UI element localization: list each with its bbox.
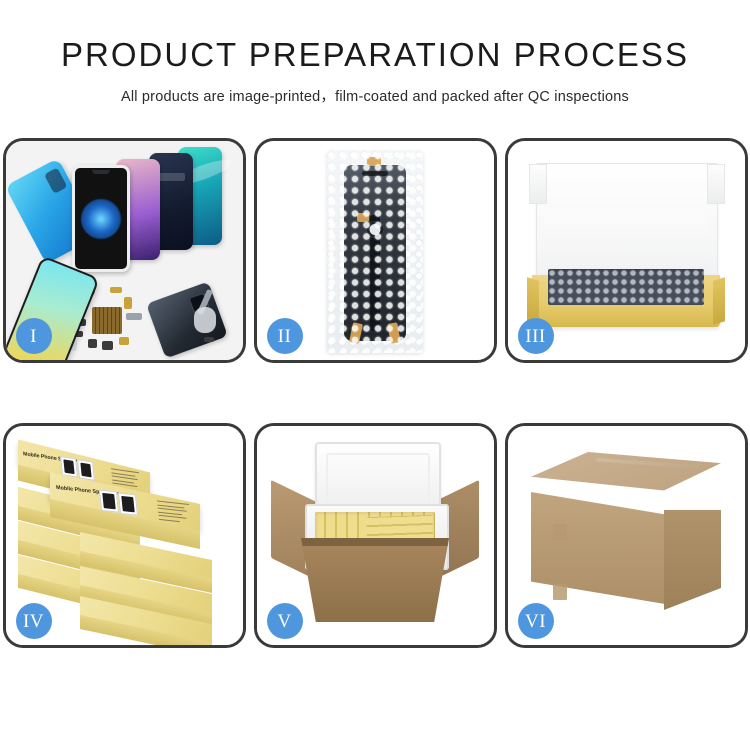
flex-connector-part (124, 297, 132, 309)
carton-side-face (664, 510, 721, 610)
tape-middle (357, 213, 369, 222)
tape-top (367, 157, 381, 166)
page-header: PRODUCT PREPARATION PROCESS All products… (0, 0, 750, 106)
carton-front-face (531, 492, 665, 604)
cable-coil (367, 221, 384, 238)
bubble-bag-scene (327, 151, 423, 353)
process-step-grid: I II (0, 138, 750, 698)
sealed-carton-scene (531, 452, 721, 624)
carton-foam-scene (275, 442, 475, 632)
step-badge-3: III (518, 318, 554, 354)
step-badge-4: IV (16, 603, 52, 639)
small-screw-part (88, 339, 97, 348)
bubble-wrapped-contents (548, 269, 704, 305)
carton-tape-upper (553, 524, 567, 540)
metal-bracket-part (126, 313, 142, 320)
carton-tape-lower (553, 584, 567, 600)
step-badge-2: II (267, 318, 303, 354)
product-preparation-process-page: PRODUCT PREPARATION PROCESS All products… (0, 0, 750, 750)
foam-sheet (544, 215, 708, 277)
box-stack-scene: Mobile Phone Spare Parts Mobile Phone Sp… (18, 450, 223, 635)
carton-body (301, 538, 449, 622)
process-step-4: Mobile Phone Spare Parts Mobile Phone Sp… (3, 423, 246, 648)
button-part (102, 341, 113, 350)
step-badge-6: VI (518, 603, 554, 639)
process-step-5: V (254, 423, 497, 648)
box-label-phone-img-2a (98, 489, 118, 512)
gloved-hand (194, 307, 216, 333)
front-glass-screen-photo (72, 165, 130, 272)
page-title: PRODUCT PREPARATION PROCESS (0, 38, 750, 73)
page-subtitle: All products are image-printed，film-coat… (0, 85, 750, 106)
process-step-2: II (254, 138, 497, 363)
gold-connector-part (110, 287, 122, 293)
logic-board-part (92, 307, 122, 334)
process-step-6: VI (505, 423, 748, 648)
open-flat-box-scene (526, 163, 726, 343)
gold-contact-part (119, 337, 129, 345)
process-step-3: III (505, 138, 748, 363)
box-label-phone-img-2b (117, 493, 137, 516)
process-step-1: I (3, 138, 246, 363)
screw-part (204, 337, 214, 342)
step-badge-1: I (16, 318, 52, 354)
box-label-specs-2 (156, 501, 190, 526)
step-badge-5: V (267, 603, 303, 639)
